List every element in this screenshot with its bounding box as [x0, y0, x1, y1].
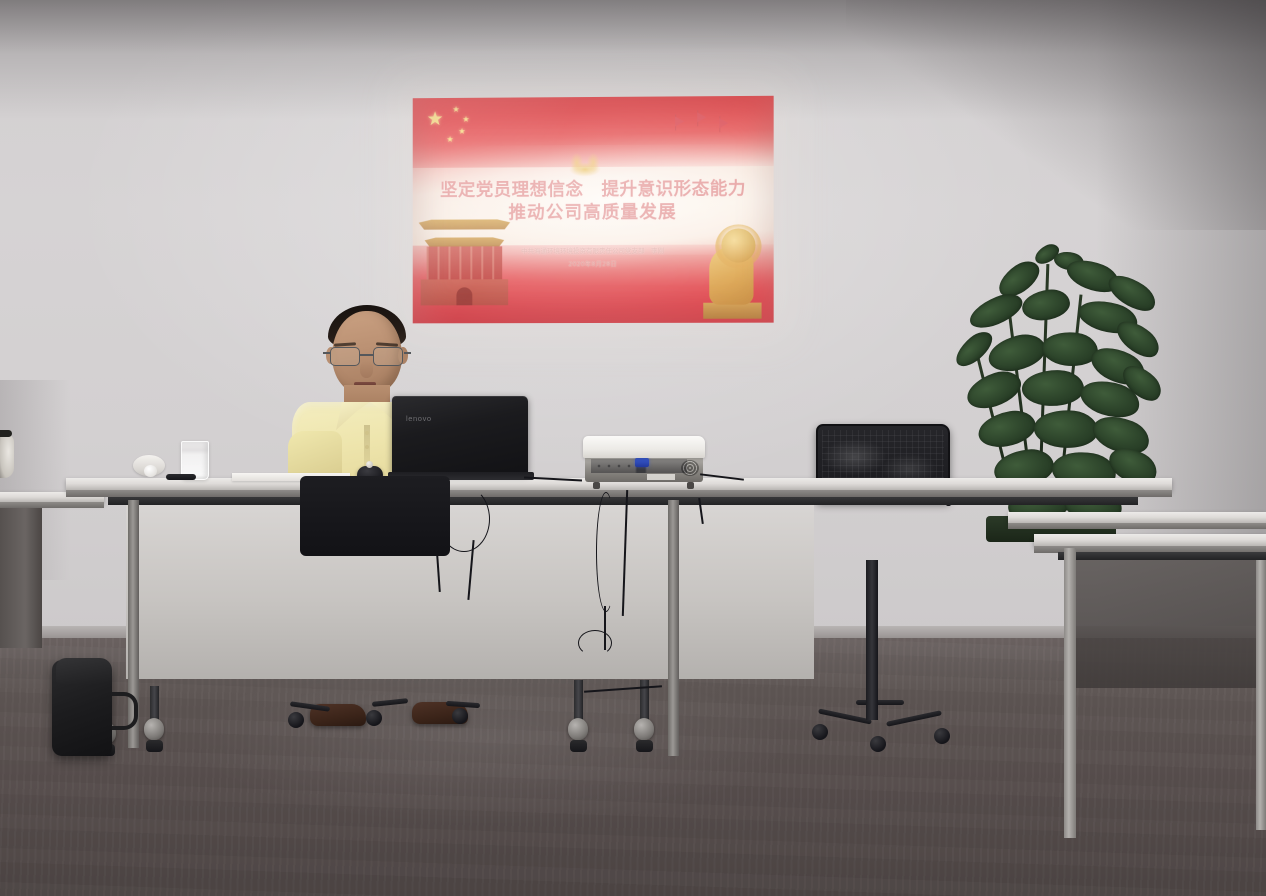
cable-loop — [596, 492, 616, 612]
mini-flag — [697, 112, 706, 122]
slide-title-line-2: 推动公司高质量发展 — [413, 201, 774, 226]
saucer-knob — [144, 465, 157, 477]
table-modesty-panel — [674, 504, 814, 679]
projector-speaker-grille — [681, 460, 699, 476]
mini-flags-icon — [675, 110, 737, 136]
table-frame — [108, 496, 1138, 505]
meeting-room-photo: ★ ★ ★ ★ ★ — [0, 0, 1266, 896]
presenter-remote[interactable] — [166, 474, 196, 480]
laptop-lid: lenovo — [392, 396, 528, 474]
left-edge-object — [0, 434, 14, 478]
black-laptop[interactable]: lenovo — [392, 396, 528, 482]
table-leg — [668, 500, 679, 756]
star-small-icon: ★ — [452, 106, 459, 114]
chair-base-spoke — [856, 700, 904, 705]
slide-subtitle: 中共海通环境环境投资有限责任公司党支部 李刚 2020年8月28日 — [413, 245, 774, 271]
mouse-highlight — [366, 461, 373, 468]
flag-stars-icon: ★ ★ ★ ★ ★ — [425, 106, 505, 150]
star-small-icon: ★ — [446, 136, 453, 144]
white-projector[interactable] — [583, 436, 705, 488]
projector-foot — [687, 482, 694, 489]
plant-leaf — [1021, 369, 1084, 407]
plant-leaf — [975, 407, 1038, 451]
table-edge — [66, 490, 1172, 497]
glasses-temple-left — [323, 352, 330, 354]
bag-handle — [112, 692, 138, 730]
star-small-icon: ★ — [458, 128, 465, 136]
slide-title-line-1: 坚定党员理想信念 提升意识形态能力 — [413, 178, 774, 203]
nose — [360, 361, 373, 378]
chair-gas-cylinder — [866, 560, 878, 720]
projector-vga-port — [635, 458, 649, 467]
table-modesty-panel — [0, 508, 42, 648]
star-small-icon: ★ — [462, 116, 469, 124]
shirt-button — [365, 445, 369, 449]
caster-wheel — [634, 718, 654, 740]
slide-subtitle-line-1: 中共海通环境环境投资有限责任公司党支部 李刚 — [413, 245, 774, 259]
mini-flag — [675, 116, 684, 126]
plant-leaf — [965, 288, 1027, 333]
star-large-icon: ★ — [427, 110, 444, 129]
caster-tire — [146, 740, 163, 752]
chair-caster — [452, 708, 468, 724]
slide-title: 坚定党员理想信念 提升意识形态能力 推动公司高质量发展 — [413, 178, 774, 226]
caster-wheel — [568, 718, 588, 740]
left-edge-dark-object — [0, 430, 12, 437]
lens-left — [330, 347, 360, 366]
caster-tire — [570, 740, 587, 752]
glasses-temple-right — [404, 352, 411, 354]
lens-right — [373, 347, 403, 366]
chair-caster — [870, 736, 886, 752]
bag-flap — [56, 658, 112, 684]
chair-caster — [288, 712, 304, 728]
table-edge — [1008, 523, 1266, 529]
laptop-brand-label: lenovo — [406, 414, 432, 423]
table-leg — [1064, 548, 1076, 838]
chair-caster — [366, 710, 382, 726]
table-leg — [1256, 560, 1266, 830]
speaker-chair-backrest[interactable] — [300, 476, 450, 556]
projector-top-shell — [583, 436, 705, 458]
table-shadow-panel — [1066, 558, 1266, 688]
shirt-button — [365, 431, 369, 435]
projected-slide: ★ ★ ★ ★ ★ — [413, 96, 774, 324]
mini-flag — [719, 118, 728, 128]
plant-leaf — [1021, 288, 1072, 323]
table-frame — [1058, 552, 1266, 560]
projector-label — [647, 474, 675, 480]
projector-foot — [593, 482, 600, 489]
chair-caster — [812, 724, 828, 740]
glasses-bridge — [360, 354, 374, 356]
cable-loop — [578, 630, 612, 656]
caster-wheel — [144, 718, 164, 740]
lion-base — [703, 303, 761, 319]
caster-tire — [636, 740, 653, 752]
floor-reflection — [140, 660, 840, 860]
chair-caster — [934, 728, 950, 744]
plant-leaf — [985, 330, 1049, 375]
slide-subtitle-line-2: 2020年8月28日 — [413, 257, 774, 271]
slide-text-block: 坚定党员理想信念 提升意识形态能力 推动公司高质量发展 中共海通环境环境投资有限… — [413, 178, 774, 270]
